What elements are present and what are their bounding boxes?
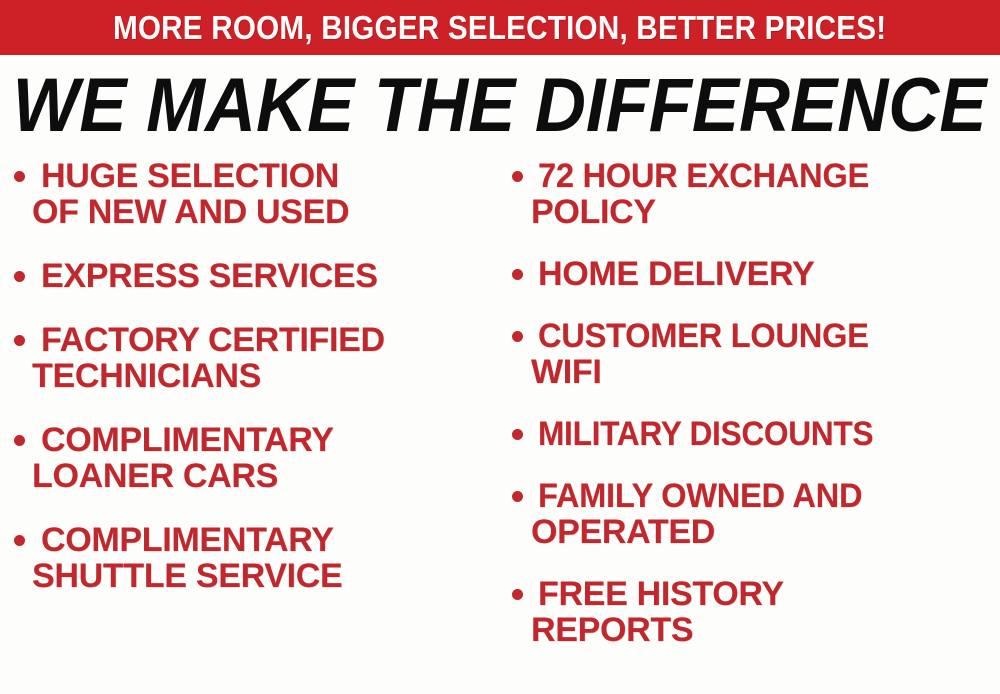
list-item-text: CUSTOMER LOUNGE WIFI bbox=[538, 318, 1000, 390]
list-item-line-1: MILITARY DISCOUNTS bbox=[538, 416, 873, 452]
list-item-text: COMPLIMENTARY LOANER CARS bbox=[41, 422, 494, 494]
bullet-dot-icon bbox=[512, 171, 523, 182]
list-item: FAMILY OWNED AND OPERATED bbox=[512, 478, 1000, 550]
list-item-line-1: FACTORY CERTIFIED bbox=[41, 322, 494, 358]
bullet-dot-icon bbox=[512, 589, 523, 600]
bullet-dot-icon bbox=[14, 335, 25, 346]
list-item: COMPLIMENTARY SHUTTLE SERVICE bbox=[14, 522, 494, 594]
list-item-text: HUGE SELECTION OF NEW AND USED bbox=[41, 158, 494, 230]
list-item-line-2: POLICY bbox=[531, 194, 1000, 230]
list-item-text: 72 HOUR EXCHANGE POLICY bbox=[538, 158, 1000, 230]
list-item-line-1: 72 HOUR EXCHANGE bbox=[538, 158, 869, 194]
list-item-line-2: OF NEW AND USED bbox=[32, 194, 494, 230]
list-item: FREE HISTORY REPORTS bbox=[512, 576, 1000, 648]
advertisement-poster: MORE ROOM, BIGGER SELECTION, BETTER PRIC… bbox=[0, 0, 1000, 694]
list-item-line-2: WIFI bbox=[531, 354, 1000, 390]
list-item-line-2: SHUTTLE SERVICE bbox=[32, 558, 494, 594]
benefits-column-right: 72 HOUR EXCHANGE POLICY HOME DELIVERY CU… bbox=[512, 158, 1000, 674]
bullet-dot-icon bbox=[512, 491, 523, 502]
list-item-line-1: FREE HISTORY bbox=[538, 576, 1000, 612]
list-item: MILITARY DISCOUNTS bbox=[512, 416, 1000, 452]
list-item-line-2: REPORTS bbox=[531, 612, 1000, 648]
list-item-text: FACTORY CERTIFIED TECHNICIANS bbox=[41, 322, 494, 394]
list-item-line-1: COMPLIMENTARY bbox=[41, 422, 494, 458]
list-item-text: EXPRESS SERVICES bbox=[41, 258, 494, 294]
bullet-dot-icon bbox=[14, 535, 25, 546]
main-headline: WE MAKE THE DIFFERENCE bbox=[13, 68, 987, 144]
bullet-dot-icon bbox=[14, 435, 25, 446]
list-item: 72 HOUR EXCHANGE POLICY bbox=[512, 158, 1000, 230]
list-item-line-1: CUSTOMER LOUNGE bbox=[538, 318, 869, 354]
banner-headline-text: MORE ROOM, BIGGER SELECTION, BETTER PRIC… bbox=[113, 11, 886, 44]
headline-container: WE MAKE THE DIFFERENCE bbox=[0, 60, 1000, 152]
list-item-text: FREE HISTORY REPORTS bbox=[538, 576, 1000, 648]
bullet-dot-icon bbox=[512, 331, 523, 342]
list-item-line-2: LOANER CARS bbox=[32, 458, 494, 494]
list-item: EXPRESS SERVICES bbox=[14, 258, 494, 294]
list-item-text: MILITARY DISCOUNTS bbox=[538, 416, 1000, 452]
list-item-text: FAMILY OWNED AND OPERATED bbox=[538, 478, 1000, 550]
bullet-dot-icon bbox=[512, 269, 523, 280]
list-item-text: COMPLIMENTARY SHUTTLE SERVICE bbox=[41, 522, 494, 594]
bullet-dot-icon bbox=[512, 429, 523, 440]
list-item: HUGE SELECTION OF NEW AND USED bbox=[14, 158, 494, 230]
list-item-line-1: FAMILY OWNED AND bbox=[538, 478, 862, 514]
list-item-line-2: OPERATED bbox=[531, 514, 1000, 550]
list-item-line-1: EXPRESS SERVICES bbox=[41, 258, 494, 294]
top-banner: MORE ROOM, BIGGER SELECTION, BETTER PRIC… bbox=[0, 0, 1000, 55]
benefits-column-left: HUGE SELECTION OF NEW AND USED EXPRESS S… bbox=[14, 158, 494, 622]
list-item: FACTORY CERTIFIED TECHNICIANS bbox=[14, 322, 494, 394]
list-item: CUSTOMER LOUNGE WIFI bbox=[512, 318, 1000, 390]
list-item-text: HOME DELIVERY bbox=[538, 256, 1000, 292]
bullet-dot-icon bbox=[14, 171, 25, 182]
list-item-line-1: COMPLIMENTARY bbox=[41, 522, 494, 558]
list-item-line-1: HOME DELIVERY bbox=[538, 256, 1000, 292]
list-item-line-1: HUGE SELECTION bbox=[41, 158, 494, 194]
benefits-columns: HUGE SELECTION OF NEW AND USED EXPRESS S… bbox=[0, 158, 1000, 694]
list-item: COMPLIMENTARY LOANER CARS bbox=[14, 422, 494, 494]
list-item: HOME DELIVERY bbox=[512, 256, 1000, 292]
bullet-dot-icon bbox=[14, 271, 25, 282]
list-item-line-2: TECHNICIANS bbox=[32, 358, 494, 394]
